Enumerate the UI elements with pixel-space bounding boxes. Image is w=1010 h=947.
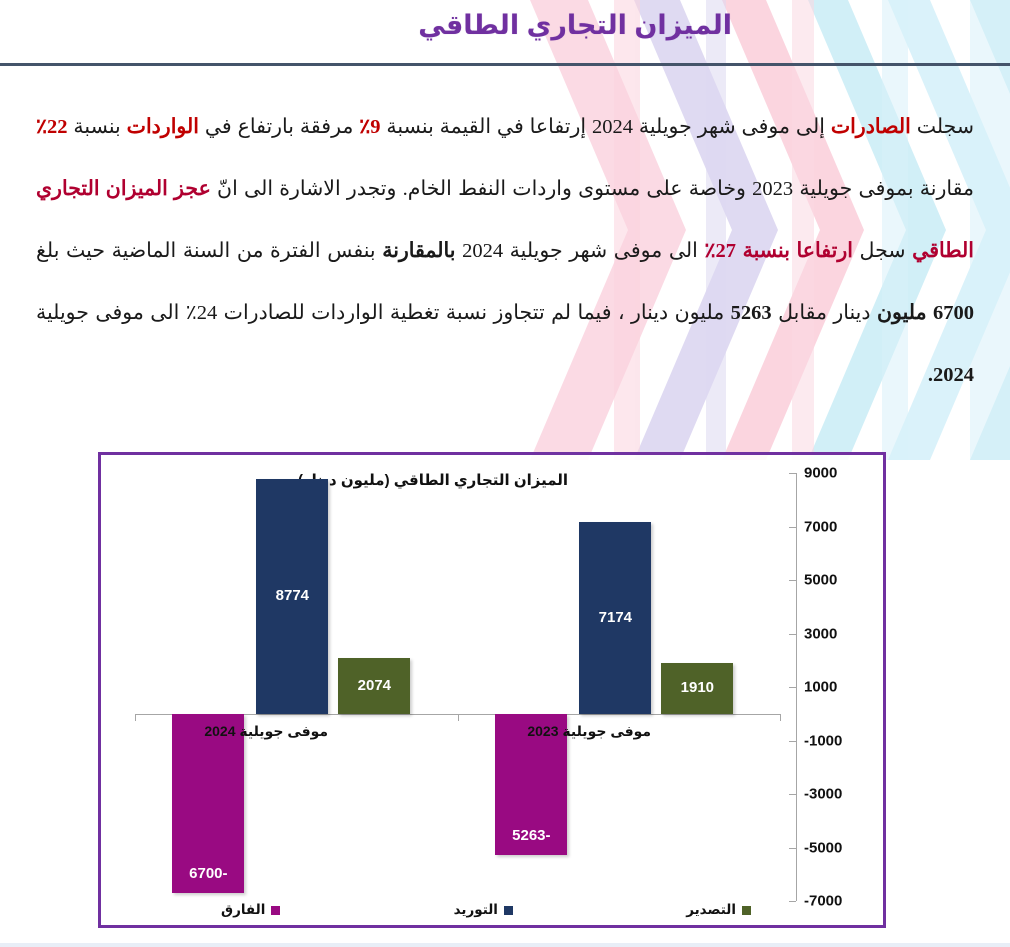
text-run: بنسبة — [68, 116, 127, 138]
chart-bar-value-label: 8774 — [256, 587, 328, 604]
legend-swatch-icon — [271, 906, 280, 915]
chart-y-tick-label: -5000 — [804, 839, 878, 856]
chart-y-tick-label: 9000 — [804, 465, 878, 482]
value-2024: 2024. — [928, 364, 974, 386]
text-run: الفترة من السنة الماضية حيث بلغ — [36, 240, 321, 262]
highlight-pct-27: ارتفاعا بنسبة 27٪ — [704, 240, 852, 262]
text-run: دينار مقابل — [772, 302, 877, 324]
document-page: الميزان التجاري الطاقي سجلت الصادرات إلى… — [0, 0, 1010, 947]
text-run-bold: بالمقارنة — [382, 240, 455, 262]
chart-bar-value-label: -5263 — [495, 827, 567, 844]
chart-y-tick — [789, 901, 796, 902]
chart-y-tick — [789, 634, 796, 635]
page-header: الميزان التجاري الطاقي — [0, 0, 1010, 66]
chart-bar-value-label: 1910 — [661, 679, 733, 696]
chart-bar-value-label: 7174 — [579, 609, 651, 626]
chart-category-tick — [780, 714, 781, 721]
text-run: تغطية الواردات للصادرات 24٪ الى موفى جوي… — [36, 302, 439, 324]
article-paragraph: سجلت الصادرات إلى موفى شهر جويلية 2024 إ… — [36, 96, 974, 406]
legend-label: الفارق — [221, 902, 265, 918]
footer-divider — [0, 943, 1010, 947]
legend-label: التوريد — [454, 902, 498, 918]
energy-trade-balance-chart: الميزان التجاري الطاقي (مليون دينار) -67… — [98, 452, 886, 928]
page-title: الميزان التجاري الطاقي — [418, 10, 732, 41]
chart-y-tick-label: 7000 — [804, 518, 878, 535]
chart-legend-item[interactable]: الفارق — [221, 902, 280, 918]
chart-y-axis: 90007000500030001000-1000-3000-5000-7000 — [789, 473, 797, 901]
chart-y-tick-label: -7000 — [804, 893, 878, 910]
chart-y-tick — [789, 527, 796, 528]
chart-legend-item[interactable]: التوريد — [454, 902, 513, 918]
text-run: بنفس — [321, 240, 383, 262]
chart-bar-value-label: -6700 — [172, 865, 244, 882]
header-divider — [0, 63, 1010, 66]
chart-category-tick — [135, 714, 136, 721]
chart-y-tick-label: -1000 — [804, 732, 878, 749]
chart-y-tick — [789, 848, 796, 849]
chart-y-tick — [789, 473, 796, 474]
chart-legend: الفارقالتوريدالتصدير — [221, 902, 751, 918]
highlight-pct-22: 22٪ — [36, 116, 68, 138]
chart-legend-item[interactable]: التصدير — [686, 902, 751, 918]
chart-category-tick — [458, 714, 459, 721]
chart-y-tick — [789, 580, 796, 581]
chart-y-tick-label: 5000 — [804, 572, 878, 589]
legend-swatch-icon — [742, 906, 751, 915]
text-run: سجلت — [911, 116, 974, 138]
chart-plot-area: -670087742074موفى جويلية 2024-5263717419… — [135, 473, 781, 901]
text-run: مرفقة بارتفاع في — [199, 116, 359, 138]
chart-y-tick-label: -3000 — [804, 786, 878, 803]
article-body: سجلت الصادرات إلى موفى شهر جويلية 2024 إ… — [36, 96, 974, 406]
highlight-imports: الواردات — [127, 116, 199, 138]
legend-swatch-icon — [504, 906, 513, 915]
text-run: إلى موفى شهر جويلية 2024 إرتفاعا في القي… — [381, 116, 831, 138]
chart-y-tick-label: 1000 — [804, 679, 878, 696]
chart-y-tick-label: 3000 — [804, 625, 878, 642]
chart-y-tick — [789, 687, 796, 688]
text-run: مقارنة بموفى جويلية 2023 وخاصة على مستوى… — [211, 178, 974, 200]
chart-y-tick — [789, 741, 796, 742]
highlight-exports: الصادرات — [831, 116, 911, 138]
chart-bar-value-label: 2074 — [338, 677, 410, 694]
highlight-pct-9: 9٪ — [359, 116, 380, 138]
value-5263: 5263 — [731, 302, 772, 324]
text-run: الى موفى شهر جويلية 2024 — [455, 240, 704, 262]
chart-y-tick — [789, 794, 796, 795]
value-6700: 6700 مليون — [877, 302, 974, 324]
text-run: سجل — [853, 240, 912, 262]
text-run: مليون دينار ، فيما لم تتجاوز نسبة — [439, 302, 730, 324]
chart-category-label: موفى جويلية 2024 — [204, 723, 328, 740]
chart-category-label: موفى جويلية 2023 — [527, 723, 651, 740]
legend-label: التصدير — [686, 902, 736, 918]
